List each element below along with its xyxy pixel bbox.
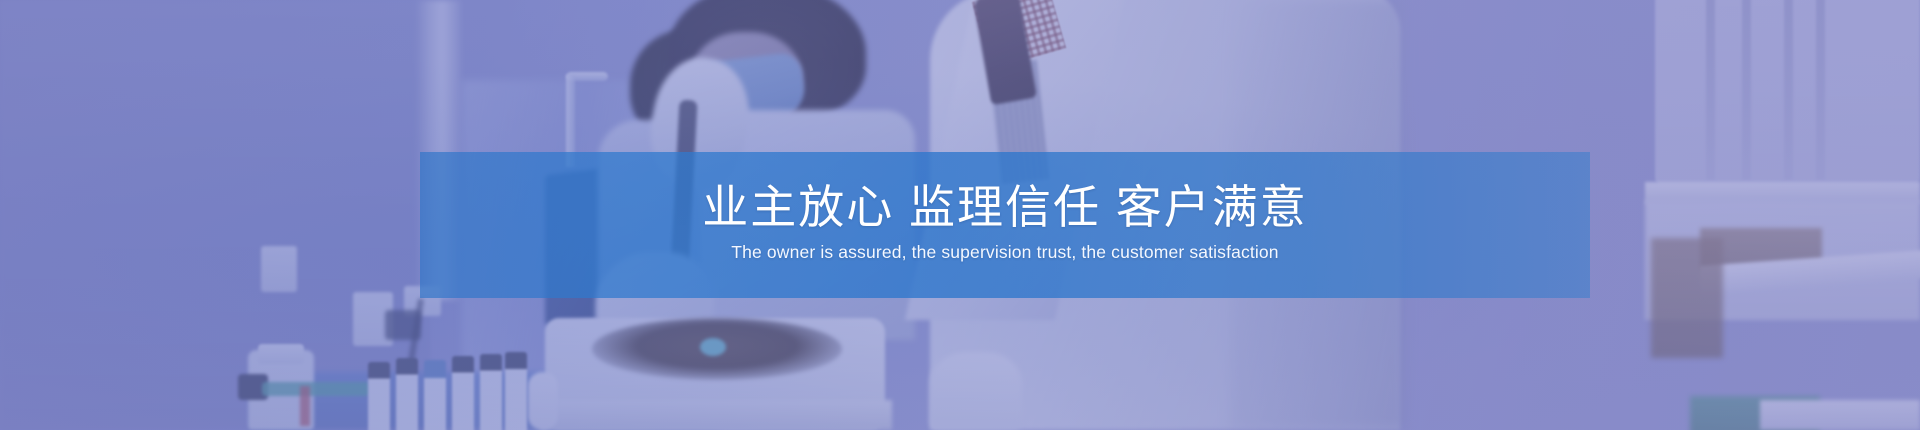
hero-banner: 业主放心 监理信任 客户满意 The owner is assured, the… <box>0 0 1920 430</box>
headline-chinese: 业主放心 监理信任 客户满意 <box>702 183 1308 233</box>
headline-bar: 业主放心 监理信任 客户满意 The owner is assured, the… <box>420 152 1590 298</box>
headline-english: The owner is assured, the supervision tr… <box>731 242 1278 263</box>
